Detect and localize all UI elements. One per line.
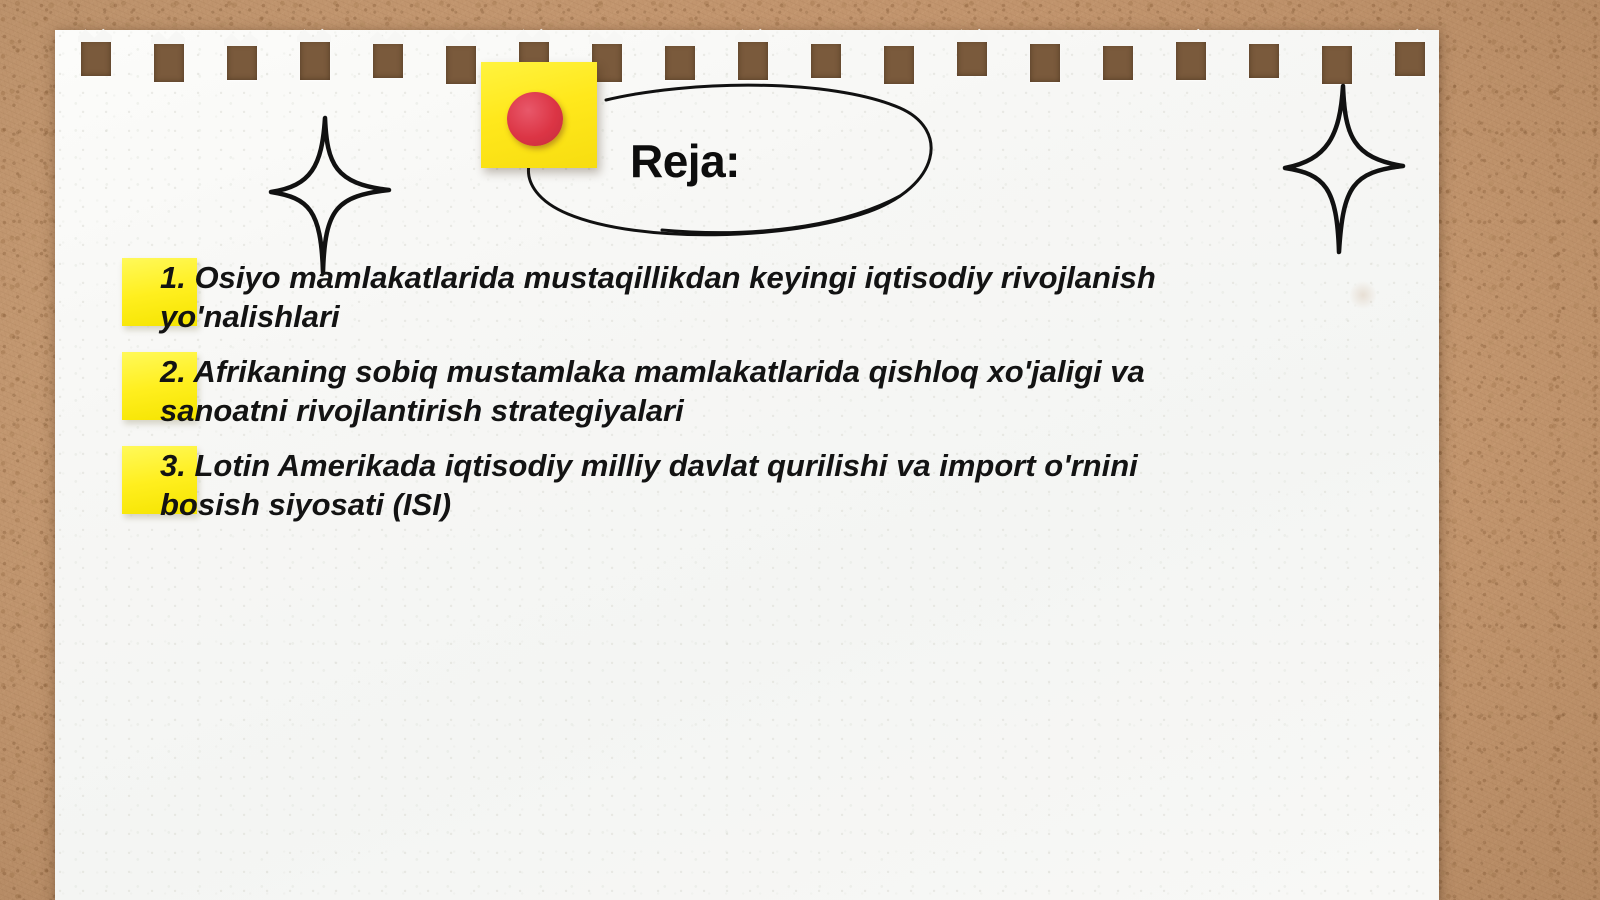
sparkle-icon-left bbox=[265, 112, 395, 277]
binding-punch-hole bbox=[1030, 42, 1060, 82]
list-item[interactable]: 1. Osiyo mamlakatlarida mustaqillikdan k… bbox=[122, 258, 1242, 336]
list-item[interactable]: 3. Lotin Amerikada iqtisodiy milliy davl… bbox=[122, 446, 1242, 524]
binding-punch-hole bbox=[1395, 40, 1425, 76]
list-item-label: 1. Osiyo mamlakatlarida mustaqillikdan k… bbox=[122, 258, 1210, 336]
list-item-label: 3. Lotin Amerikada iqtisodiy milliy davl… bbox=[122, 446, 1210, 524]
binding-punch-hole bbox=[738, 40, 768, 80]
binding-punch-hole bbox=[957, 40, 987, 76]
page-title: Reja: bbox=[630, 134, 740, 188]
binding-punch-hole bbox=[811, 42, 841, 78]
binding-punch-hole bbox=[665, 44, 695, 80]
push-pin-icon[interactable] bbox=[507, 92, 563, 146]
list-item-label: 2. Afrikaning sobiq mustamlaka mamlakatl… bbox=[122, 352, 1210, 430]
agenda-list: 1. Osiyo mamlakatlarida mustaqillikdan k… bbox=[122, 258, 1242, 540]
binding-punch-hole bbox=[227, 44, 257, 80]
binding-punch-hole bbox=[81, 40, 111, 76]
binding-punch-hole bbox=[300, 40, 330, 80]
slide-canvas: Reja: 1. Osiyo mamlakatlarida mustaqilli… bbox=[0, 0, 1600, 900]
binding-punch-hole bbox=[1103, 44, 1133, 80]
paper-smudge bbox=[1350, 280, 1376, 310]
binding-punch-hole bbox=[1249, 42, 1279, 78]
binding-punch-hole bbox=[446, 44, 476, 84]
binding-punch-hole bbox=[154, 42, 184, 82]
list-item[interactable]: 2. Afrikaning sobiq mustamlaka mamlakatl… bbox=[122, 352, 1242, 430]
sticky-note[interactable] bbox=[481, 62, 597, 168]
sparkle-icon-right bbox=[1277, 78, 1407, 258]
binding-punch-hole bbox=[373, 42, 403, 78]
binding-punch-hole bbox=[1176, 40, 1206, 80]
